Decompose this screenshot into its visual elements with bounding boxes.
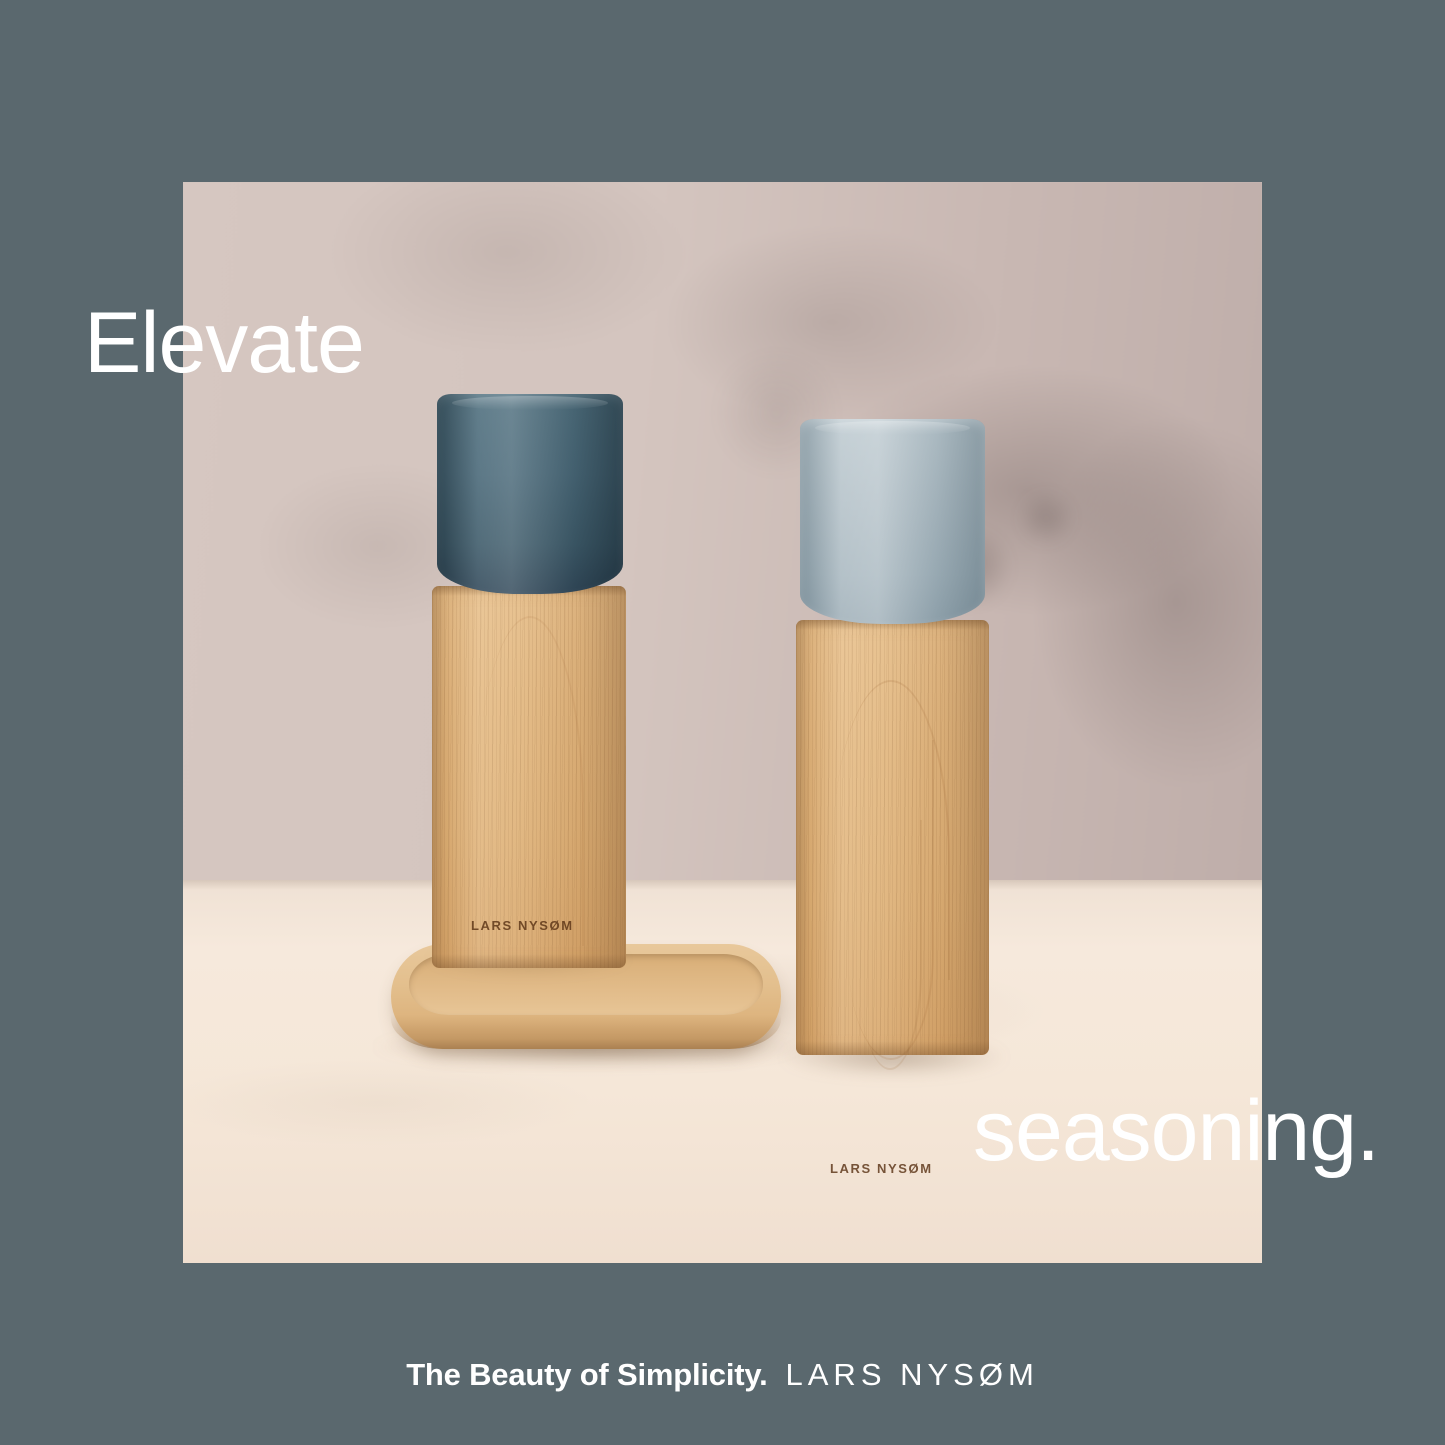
right-grinder-cap (800, 419, 985, 624)
right-grinder-engraving: LARS NYSØM (830, 1161, 933, 1176)
right-grinder-body (796, 620, 989, 1055)
right-cap-highlight (815, 421, 970, 435)
left-cap-highlight (452, 396, 608, 410)
right-grinder: LARS NYSØM (796, 620, 989, 1055)
brand-logo: LARS NYSØM (786, 1357, 1039, 1393)
left-grinder-body (432, 586, 626, 968)
footer: The Beauty of Simplicity. LARS NYSØM (0, 1357, 1445, 1393)
headline-elevate: Elevate (84, 300, 364, 386)
left-grinder-cap (437, 394, 623, 594)
left-grinder: LARS NYSØM (432, 586, 626, 968)
headline-seasoning: seasoning. (973, 1088, 1379, 1174)
table-surface (183, 880, 1262, 1263)
left-grinder-engraving: LARS NYSØM (471, 918, 574, 933)
advertisement-canvas: LARS NYSØM LARS NYSØM Elevate seasoning.… (0, 0, 1445, 1445)
left-grinder-bottom-edge (432, 954, 626, 968)
right-grinder-bottom-edge (796, 1041, 989, 1055)
footer-tagline: The Beauty of Simplicity. (406, 1357, 767, 1393)
tray-rim (391, 1015, 781, 1049)
background-wall (183, 182, 1262, 882)
